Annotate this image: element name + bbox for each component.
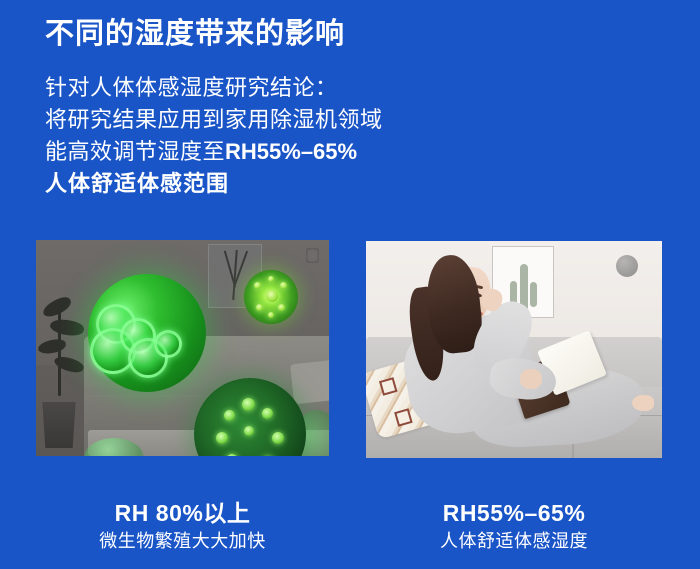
dark-room-scene xyxy=(36,240,329,456)
person-hand-holding-book xyxy=(520,369,542,389)
virus-spike-icon xyxy=(280,282,287,289)
pillow-motif xyxy=(394,408,413,427)
body-line-1: 针对人体体感湿度研究结论： xyxy=(45,72,383,104)
virus-spike-icon xyxy=(242,398,255,411)
virus-spike-icon xyxy=(254,282,261,289)
virus-spike-icon xyxy=(224,410,235,421)
virus-spike-icon xyxy=(262,408,273,419)
virus-spike-icon xyxy=(256,304,263,311)
plant-stem xyxy=(58,310,61,396)
microbe-sphere-large-icon xyxy=(88,274,206,392)
body-line-4: 人体舒适体感范围 xyxy=(45,168,383,200)
virus-spike-icon xyxy=(244,426,254,436)
wall-speaker-icon xyxy=(616,255,638,277)
wall-sensor-icon xyxy=(306,248,319,263)
cactus-icon xyxy=(530,282,537,307)
virus-spike-icon xyxy=(266,290,278,302)
virus-spike-icon xyxy=(278,304,285,311)
caption-subtitle: 人体舒适体感湿度 xyxy=(366,528,662,554)
microbe-sphere-small-icon xyxy=(244,270,298,324)
virus-spike-icon xyxy=(216,432,228,444)
body-line-2: 将研究结果应用到家用除湿机领域 xyxy=(45,104,383,136)
virus-spike-icon xyxy=(268,312,274,318)
plant-pot xyxy=(40,402,78,448)
person-foot xyxy=(632,395,654,411)
bright-room-scene xyxy=(366,241,662,458)
pillow-motif xyxy=(379,377,398,396)
caption-high-humidity: RH 80%以上 微生物繁殖大大加快 xyxy=(36,498,329,554)
humidity-range-highlight: RH55%–65% xyxy=(225,139,357,164)
humidity-infographic-poster: 不同的湿度带来的影响 针对人体体感湿度研究结论： 将研究结果应用到家用除湿机领域… xyxy=(0,0,700,569)
virus-spike-icon xyxy=(226,454,238,456)
caption-title: RH 80%以上 xyxy=(36,498,329,528)
sofa-cushion xyxy=(290,360,329,405)
virus-spike-icon xyxy=(272,432,284,444)
caption-title: RH55%–65% xyxy=(366,498,662,528)
body-line-3: 能高效调节湿度至RH55%–65% xyxy=(45,136,383,168)
virus-spike-icon xyxy=(268,276,274,282)
caption-subtitle: 微生物繁殖大大加快 xyxy=(36,528,329,554)
microbe-cell-icon xyxy=(154,330,182,358)
caption-comfort-humidity: RH55%–65% 人体舒适体感湿度 xyxy=(366,498,662,554)
photo-high-humidity xyxy=(36,240,329,456)
body-copy: 针对人体体感湿度研究结论： 将研究结果应用到家用除湿机领域 能高效调节湿度至RH… xyxy=(45,72,383,200)
page-title: 不同的湿度带来的影响 xyxy=(45,16,345,52)
body-line-3-prefix: 能高效调节湿度至 xyxy=(45,139,225,164)
photo-comfort-humidity xyxy=(366,241,662,458)
